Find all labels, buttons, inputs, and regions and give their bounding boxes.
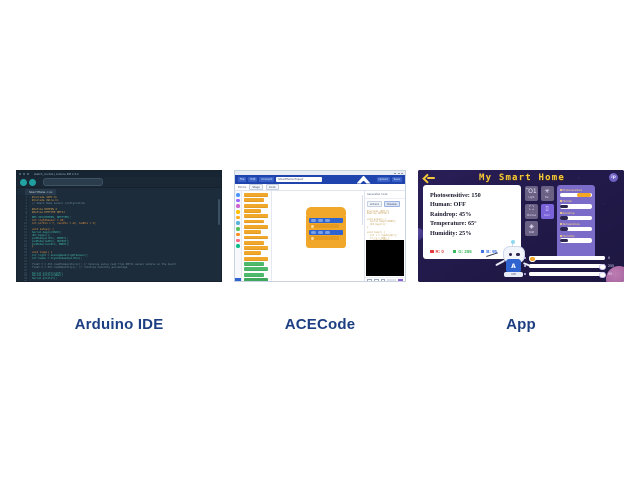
robot-base-label: ACE bbox=[504, 272, 523, 277]
script-body bbox=[306, 216, 346, 243]
status-box bbox=[387, 279, 396, 282]
rgb-red-text: R: 0 bbox=[436, 249, 444, 254]
value-input[interactable] bbox=[325, 231, 330, 234]
window-dot bbox=[27, 173, 29, 175]
sensor-reading-temperature: Temperature: 65° bbox=[430, 219, 514, 228]
verify-button[interactable] bbox=[20, 179, 27, 186]
device-button-light[interactable]: Ὂ1Light bbox=[525, 186, 538, 201]
upload-button[interactable] bbox=[29, 179, 36, 186]
chip-arduino[interactable]: Arduino bbox=[367, 201, 382, 207]
tab-code[interactable]: Code bbox=[266, 184, 279, 190]
sensor-reading-humidity: Humidity: 25% bbox=[430, 229, 514, 238]
rgb-green: G: 255 bbox=[453, 249, 472, 254]
light-icon: Ὂ1 bbox=[529, 188, 535, 195]
add-extension-button[interactable] bbox=[235, 278, 241, 282]
palette-block[interactable] bbox=[244, 220, 265, 224]
value-input[interactable] bbox=[318, 231, 323, 234]
palette-category-looks[interactable] bbox=[236, 199, 240, 203]
toggle-track[interactable] bbox=[560, 238, 592, 242]
canvas-scrollbar-horizontal[interactable] bbox=[280, 281, 328, 283]
palette-category-events[interactable] bbox=[236, 210, 240, 214]
sensor-toggle-photosensitive[interactable]: Photosensitive bbox=[560, 188, 592, 197]
caption-acecode: ACECode bbox=[234, 316, 406, 333]
block-canvas[interactable] bbox=[272, 191, 364, 282]
sensor-reading-raindrop: Raindrop: 45% bbox=[430, 210, 514, 219]
grid-icon[interactable] bbox=[367, 279, 372, 283]
arduino-editor: 1234567891011121314151617181920212223242… bbox=[17, 195, 221, 282]
robot-arm-icon bbox=[495, 260, 505, 266]
board-selector[interactable] bbox=[43, 178, 103, 186]
sketch-tab[interactable]: SmartHome.ino bbox=[25, 189, 56, 195]
sensor-toggle-panel[interactable]: PhotosensitiveHumanRaindropTemperatureHu… bbox=[557, 185, 595, 259]
bullet-icon bbox=[560, 200, 562, 202]
palette-block[interactable] bbox=[244, 251, 262, 255]
block-drawer[interactable] bbox=[242, 191, 272, 282]
window-dot bbox=[23, 173, 25, 175]
slider-value: 0 bbox=[608, 256, 617, 260]
slider-value: 95 bbox=[608, 272, 617, 276]
app-header: My Smart Home ip bbox=[418, 170, 624, 185]
palette-block[interactable] bbox=[244, 267, 268, 271]
palette-block[interactable] bbox=[244, 198, 265, 202]
device-button-label: RGB bbox=[529, 231, 534, 234]
door-icon: ▯ bbox=[544, 206, 550, 213]
arduino-ide-screenshot: sketch_nov12a | Arduino IDE 2.3.2 SmartH… bbox=[16, 170, 222, 282]
acecode-subbar: Blocks Stage Code bbox=[235, 184, 405, 191]
toggle-knob[interactable] bbox=[577, 193, 591, 197]
code-pane-chips: Arduino Preview bbox=[365, 199, 405, 209]
robot-chest-icon: A bbox=[511, 263, 516, 270]
slider-value: 255 bbox=[608, 264, 617, 268]
device-button-door[interactable]: ▯Door bbox=[541, 204, 554, 219]
device-button-label: Window bbox=[527, 214, 536, 217]
wait-block[interactable] bbox=[309, 236, 339, 240]
wait-block[interactable] bbox=[309, 224, 339, 228]
app-screenshot: My Smart Home ip Photosensitive: 150Huma… bbox=[418, 170, 624, 282]
generated-code-pane: Generated Code Arduino Preview #include … bbox=[364, 191, 405, 282]
toggle-knob[interactable] bbox=[560, 216, 568, 220]
slide-canvas: sketch_nov12a | Arduino IDE 2.3.2 SmartH… bbox=[0, 0, 640, 480]
device-button-label: Fan bbox=[545, 196, 549, 199]
sensor-reading-photosensitive: Photosensitive: 150 bbox=[430, 191, 514, 200]
robot-body: A bbox=[506, 259, 521, 273]
slider-bullet-icon bbox=[524, 273, 526, 275]
palette-block[interactable] bbox=[244, 241, 265, 245]
number-input[interactable] bbox=[311, 237, 314, 240]
sensor-toggle-human[interactable]: Human bbox=[560, 199, 592, 208]
palette-block[interactable] bbox=[244, 273, 265, 277]
code-line bbox=[32, 281, 218, 282]
rgb-values-row: R: 0 G: 255 B: 95 bbox=[430, 249, 497, 254]
arduino-tab-row: SmartHome.ino bbox=[17, 188, 221, 195]
app-title: My Smart Home bbox=[435, 173, 609, 183]
rgb-green-text: G: 255 bbox=[458, 249, 471, 254]
rgb-slider[interactable]: 95 bbox=[524, 272, 617, 276]
caption-app: App bbox=[418, 316, 624, 333]
arduino-toolbar bbox=[17, 177, 221, 188]
palette-block[interactable] bbox=[244, 278, 268, 282]
slider-bullet-icon bbox=[524, 265, 526, 267]
close-icon[interactable] bbox=[401, 173, 403, 174]
toggle-knob[interactable] bbox=[560, 205, 568, 209]
subbar-label: Blocks bbox=[238, 186, 246, 189]
bullet-icon bbox=[560, 189, 562, 191]
generated-code-text: #include <DHT.h>#define DHTPIN 2 void se… bbox=[365, 209, 405, 240]
slider-knob[interactable] bbox=[529, 256, 536, 263]
palette-category-sensing[interactable] bbox=[236, 221, 240, 225]
window-dot bbox=[19, 173, 21, 175]
menu-file[interactable]: File bbox=[238, 177, 246, 183]
device-button-rgb[interactable]: ◈RGB bbox=[525, 221, 538, 236]
palette-category-extensions[interactable] bbox=[236, 244, 240, 248]
palette-category-operators[interactable] bbox=[236, 227, 240, 231]
palette-block[interactable] bbox=[244, 230, 262, 234]
palette-block[interactable] bbox=[244, 246, 268, 250]
acecode-topbar: File Edit Connect SmartHome Project Uplo… bbox=[235, 175, 405, 184]
menu-connect[interactable]: Connect bbox=[259, 177, 274, 183]
block-category-palette[interactable] bbox=[235, 191, 242, 282]
rgb-set-block[interactable] bbox=[309, 218, 343, 223]
back-arrow-icon[interactable] bbox=[424, 174, 435, 182]
code-area[interactable]: #include <DHT.h>#include <Wire.h>// Smar… bbox=[29, 195, 221, 282]
editor-scrollbar[interactable] bbox=[218, 199, 220, 225]
toggle-knob[interactable] bbox=[560, 227, 568, 231]
sensor-readings-list: Photosensitive: 150Human: OFFRaindrop: 4… bbox=[430, 191, 514, 238]
slider-bullet-icon bbox=[524, 257, 526, 259]
value-input[interactable] bbox=[325, 219, 330, 222]
bullet-icon bbox=[560, 212, 562, 214]
robot-eye-icon bbox=[516, 253, 520, 257]
upload-button[interactable]: Upload bbox=[377, 177, 390, 183]
toggle-track[interactable] bbox=[560, 216, 592, 220]
palette-category-variables[interactable] bbox=[236, 233, 240, 237]
window-icon: ⛶ bbox=[529, 206, 535, 213]
palette-block[interactable] bbox=[244, 209, 262, 213]
rgb-icon: ◈ bbox=[529, 223, 535, 230]
device-button-label: Light bbox=[529, 196, 535, 199]
palette-block[interactable] bbox=[244, 262, 265, 266]
sensor-toggle-label: Human bbox=[560, 199, 592, 203]
settings-icon[interactable] bbox=[381, 279, 386, 283]
list-icon[interactable] bbox=[374, 279, 379, 283]
sensor-toggle-label: Photosensitive bbox=[560, 188, 592, 192]
toggle-track[interactable] bbox=[560, 193, 592, 197]
sensor-toggle-humidity[interactable]: Humidity bbox=[560, 234, 592, 243]
maximize-icon[interactable] bbox=[398, 173, 400, 174]
green-swatch-icon bbox=[453, 250, 457, 254]
minimize-icon[interactable] bbox=[394, 173, 396, 174]
slider-track[interactable] bbox=[529, 256, 605, 259]
device-button-label: Door bbox=[544, 214, 550, 217]
app-body: Photosensitive: 150Human: OFFRaindrop: 4… bbox=[418, 185, 624, 280]
arduino-toolbar-right bbox=[214, 180, 218, 184]
save-button[interactable]: Save bbox=[392, 177, 402, 183]
rgb-red: R: 0 bbox=[430, 249, 444, 254]
sensor-toggle-label: Temperature bbox=[560, 222, 592, 226]
acecode-screenshot: File Edit Connect SmartHome Project Uplo… bbox=[234, 170, 406, 282]
toggle-track[interactable] bbox=[560, 204, 592, 208]
robot-eye-icon bbox=[509, 253, 513, 257]
chip-preview[interactable]: Preview bbox=[384, 201, 399, 207]
palette-category-sound[interactable] bbox=[236, 204, 240, 208]
rgb-slider-group[interactable]: 025595 bbox=[524, 256, 617, 276]
value-input[interactable] bbox=[311, 231, 316, 234]
sensor-toggle-label: Humidity bbox=[560, 234, 592, 238]
hat-block[interactable] bbox=[306, 207, 346, 216]
fan-icon: ✳ bbox=[544, 188, 550, 195]
sensor-reading-human: Human: OFF bbox=[430, 200, 514, 209]
palette-block[interactable] bbox=[244, 257, 268, 261]
slider-track[interactable] bbox=[529, 264, 605, 267]
arduino-window-title: sketch_nov12a | Arduino IDE 2.3.2 bbox=[34, 173, 79, 176]
connect-button[interactable] bbox=[398, 279, 403, 282]
red-swatch-icon bbox=[430, 250, 434, 254]
sensor-toggle-raindrop[interactable]: Raindrop bbox=[560, 211, 592, 220]
menu-edit[interactable]: Edit bbox=[248, 177, 257, 183]
line-number: 30 bbox=[24, 281, 27, 282]
rgb-set-block[interactable] bbox=[309, 230, 343, 235]
palette-block[interactable] bbox=[244, 204, 268, 208]
value-input[interactable] bbox=[311, 219, 316, 222]
project-name-field[interactable]: SmartHome Project bbox=[276, 177, 322, 183]
palette-block[interactable] bbox=[244, 225, 268, 229]
palette-block[interactable] bbox=[244, 214, 268, 218]
acecode-topbar-actions: Upload Save bbox=[377, 177, 402, 183]
bullet-icon bbox=[560, 235, 562, 237]
palette-block[interactable] bbox=[244, 236, 268, 240]
number-input[interactable] bbox=[311, 225, 314, 228]
line-number-gutter: 1234567891011121314151617181920212223242… bbox=[17, 195, 29, 282]
acecode-main: Generated Code Arduino Preview #include … bbox=[235, 191, 405, 282]
toggle-knob[interactable] bbox=[560, 239, 568, 243]
status-badge[interactable]: ip bbox=[609, 173, 618, 182]
blue-swatch-icon bbox=[481, 250, 485, 254]
rgb-slider[interactable]: 0 bbox=[524, 256, 617, 260]
sensor-toggle-label: Raindrop bbox=[560, 211, 592, 215]
script-foot bbox=[306, 243, 346, 248]
palette-category-motion[interactable] bbox=[236, 193, 240, 197]
toggle-track[interactable] bbox=[560, 227, 592, 231]
block-script-stack[interactable] bbox=[306, 207, 346, 248]
device-button-fan[interactable]: ✳Fan bbox=[541, 186, 554, 201]
caption-arduino-ide: Arduino IDE bbox=[16, 316, 222, 333]
palette-category-control[interactable] bbox=[236, 216, 240, 220]
bullet-icon bbox=[560, 223, 562, 225]
code-pane-header: Generated Code bbox=[365, 191, 405, 199]
slider-knob[interactable] bbox=[599, 264, 606, 271]
code-pane-title: Generated Code bbox=[367, 193, 387, 196]
canvas-scrollbar-vertical[interactable] bbox=[362, 195, 364, 225]
palette-block[interactable] bbox=[244, 193, 268, 197]
sensor-toggle-temperature[interactable]: Temperature bbox=[560, 222, 592, 231]
tab-stage[interactable]: Stage bbox=[249, 184, 263, 190]
acecode-logo-icon bbox=[357, 176, 371, 184]
code-pane-footer bbox=[365, 277, 405, 282]
rgb-slider[interactable]: 255 bbox=[524, 264, 617, 268]
serial-terminal[interactable] bbox=[366, 240, 404, 276]
device-button-window[interactable]: ⛶Window bbox=[525, 204, 538, 219]
slider-track[interactable] bbox=[529, 272, 605, 275]
palette-category-blocks[interactable] bbox=[236, 239, 240, 243]
value-input[interactable] bbox=[318, 219, 323, 222]
